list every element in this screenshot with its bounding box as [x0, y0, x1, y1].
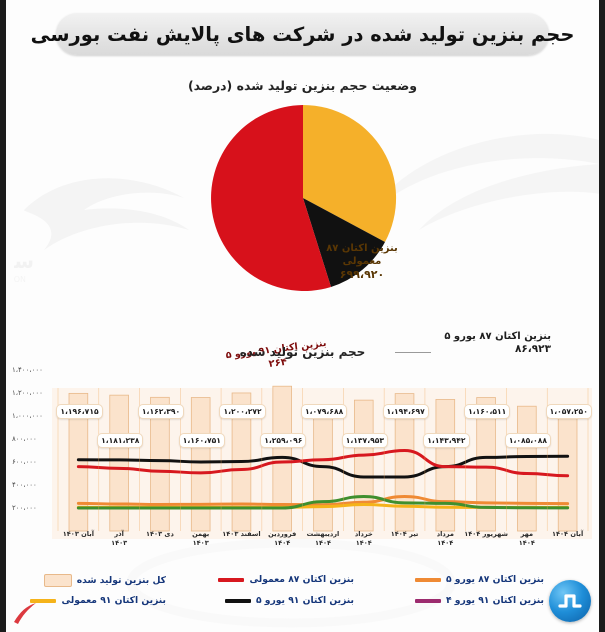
- legend-swatch-icon: [218, 578, 244, 582]
- legend-item[interactable]: کل بنزین تولید شده: [44, 574, 166, 587]
- pie-chart-caption: وضعیت حجم بنزین تولید شده (درصد): [6, 78, 599, 93]
- title-pill: حجم بنزین تولید شده در شرکت های پالایش ن…: [56, 13, 549, 55]
- page-title-text: حجم بنزین تولید شده در شرکت های پالایش ن…: [31, 23, 575, 46]
- legend-label: بنزین اکتان ۹۱ معمولی: [61, 595, 166, 606]
- bar-value-label: ۱،۰۵۷،۲۵۰: [546, 404, 592, 419]
- bar-value-label: ۱،۱۸۱،۲۳۸: [97, 433, 143, 448]
- legend-swatch-icon: [415, 599, 441, 603]
- legend-label: بنزین اکتان ۹۱ یورو ۵: [256, 595, 354, 606]
- infographic-stage: سازما SECURITIES EXCHANGE ORGANIZATION ح…: [6, 0, 599, 632]
- x-axis-label: خرداد۱۴۰۴: [342, 530, 386, 548]
- legend-item[interactable]: بنزین اکتان ۹۱ یورو ۴: [415, 595, 544, 606]
- bar-value-label: ۱،۱۶۲،۳۹۰: [138, 404, 184, 419]
- left-border-rail: [0, 0, 6, 632]
- pie-chart: بنزین اکتان ۸۷ معمولی ۶۹۹،۹۲۰ بنزین اکتا…: [6, 100, 599, 300]
- x-axis-label: مهر۱۴۰۴: [505, 530, 549, 548]
- x-axis-label: شهریور ۱۴۰۴: [464, 530, 508, 539]
- pie-value-octane87-regular: ۶۹۹،۹۲۰: [306, 268, 418, 283]
- bar-value-label: ۱،۱۶۰،۵۱۱: [464, 404, 510, 419]
- bar-value-label: ۱،۱۹۴،۶۹۷: [383, 404, 429, 419]
- bar-value-label: ۱،۱۳۷،۹۵۳: [342, 433, 388, 448]
- x-axis-labels: آبان ۱۴۰۳آذر۱۴۰۳دی ۱۴۰۳بهمن۱۴۰۳اسفند ۱۴۰…: [14, 528, 594, 562]
- right-border-rail: [599, 0, 605, 632]
- legend-swatch-icon: [225, 599, 251, 603]
- line-chart-caption: حجم بنزین تولید شده: [6, 345, 599, 359]
- pie-label-octane87-euro5-name: بنزین اکتان ۸۷ یورو ۵: [426, 330, 551, 343]
- x-axis-label: فروردین۱۴۰۴: [260, 530, 304, 548]
- bar-value-label: ۱،۱۹۶،۷۱۵: [56, 404, 102, 419]
- x-axis-label: آبان ۱۴۰۳: [56, 530, 100, 539]
- page-title: حجم بنزین تولید شده در شرکت های پالایش ن…: [56, 13, 549, 55]
- legend-swatch-icon: [415, 578, 441, 582]
- combo-chart-svg: [14, 364, 594, 539]
- bar-value-label: ۱،۰۸۵،۰۸۸: [505, 433, 551, 448]
- bar-value-label: ۱،۱۶۰،۷۵۱: [179, 433, 225, 448]
- legend-item[interactable]: بنزین اکتان ۹۱ یورو ۵: [225, 595, 354, 606]
- x-axis-label: دی ۱۴۰۳: [138, 530, 182, 539]
- legend-item[interactable]: بنزین اکتان ۹۱ معمولی: [30, 595, 166, 606]
- bar-value-label: ۱،۲۰۰،۲۷۲: [219, 404, 265, 419]
- legend-item[interactable]: بنزین اکتان ۸۷ معمولی: [218, 574, 354, 585]
- y-axis-tick: ۲۰۰،۰۰۰: [12, 504, 58, 512]
- bar-value-label: ۱،۲۵۹،۰۹۶: [260, 433, 306, 448]
- y-axis-tick: ۱،۴۰۰،۰۰۰: [12, 366, 58, 374]
- pie-label-octane87-regular: بنزین اکتان ۸۷ معمولی ۶۹۹،۹۲۰: [306, 242, 418, 283]
- combo-chart: [14, 364, 594, 539]
- bourse-logo-badge: [549, 580, 591, 622]
- x-axis-label: آبان ۱۴۰۴: [546, 530, 590, 539]
- y-axis-tick: ۴۰۰،۰۰۰: [12, 481, 58, 489]
- chart-legend: بنزین اکتان ۸۷ یورو ۵بنزین اکتان ۸۷ معمو…: [26, 574, 544, 618]
- legend-label: بنزین اکتان ۹۱ یورو ۴: [446, 595, 544, 606]
- x-axis-label: اردیبهشت ۱۴۰۴: [301, 530, 345, 548]
- x-axis-label: بهمن۱۴۰۳: [179, 530, 223, 548]
- legend-label: بنزین اکتان ۸۷ معمولی: [249, 574, 354, 585]
- x-axis-label: آذر۱۴۰۳: [97, 530, 141, 548]
- bar-value-label: ۱،۰۷۹،۶۸۸: [301, 404, 347, 419]
- y-axis-tick: ۶۰۰،۰۰۰: [12, 458, 58, 466]
- x-axis-label: مرداد۱۴۰۴: [423, 530, 467, 548]
- legend-item[interactable]: بنزین اکتان ۸۷ یورو ۵: [415, 574, 544, 585]
- bar-value-label: ۱،۱۴۳،۹۴۲: [423, 433, 469, 448]
- y-axis-tick: ۱،۲۰۰،۰۰۰: [12, 389, 58, 397]
- legend-swatch-icon: [44, 574, 72, 587]
- pie-label-octane87-regular-line2: معمولی: [306, 255, 418, 268]
- bourse-logo-icon: [556, 587, 584, 615]
- x-axis-label: تیر ۱۴۰۴: [383, 530, 427, 539]
- legend-swatch-icon: [30, 599, 56, 603]
- y-axis-tick: ۸۰۰،۰۰۰: [12, 435, 58, 443]
- legend-label: کل بنزین تولید شده: [77, 575, 166, 586]
- y-axis-tick: ۱،۰۰۰،۰۰۰: [12, 412, 58, 420]
- x-axis-label: اسفند ۱۴۰۳: [219, 530, 263, 539]
- pie-label-octane87-regular-line1: بنزین اکتان ۸۷: [306, 242, 418, 255]
- legend-label: بنزین اکتان ۸۷ یورو ۵: [446, 574, 544, 585]
